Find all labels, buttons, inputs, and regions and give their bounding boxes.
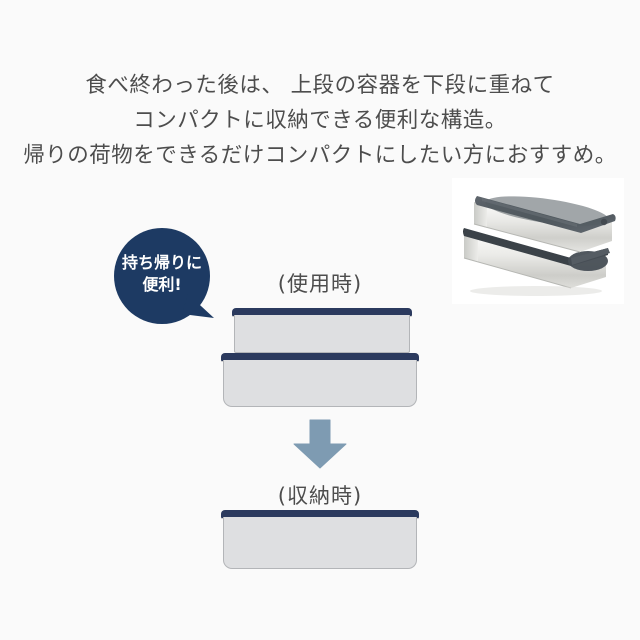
container-body bbox=[223, 517, 417, 569]
headline-line-3: 帰りの荷物をできるだけコンパクトにしたい方におすすめ。 bbox=[0, 138, 640, 173]
down-arrow-icon bbox=[291, 418, 349, 470]
speech-bubble-shape bbox=[110, 226, 222, 338]
headline-line-2: コンパクトに収納できる便利な構造。 bbox=[0, 103, 640, 138]
headline-block: 食べ終わった後は、 上段の容器を下段に重ねて コンパクトに収納できる便利な構造。… bbox=[0, 68, 640, 173]
product-description-page: 食べ終わった後は、 上段の容器を下段に重ねて コンパクトに収納できる便利な構造。… bbox=[0, 0, 640, 640]
container-body bbox=[234, 315, 410, 353]
badge-takeaway-convenient: 持ち帰りに 便利! bbox=[110, 226, 222, 338]
label-stored: (収納時) bbox=[220, 480, 420, 510]
container-body bbox=[223, 360, 417, 407]
headline-line-1: 食べ終わった後は、 上段の容器を下段に重ねて bbox=[0, 68, 640, 103]
product-photo bbox=[452, 178, 624, 304]
label-in-use: (使用時) bbox=[220, 268, 420, 298]
